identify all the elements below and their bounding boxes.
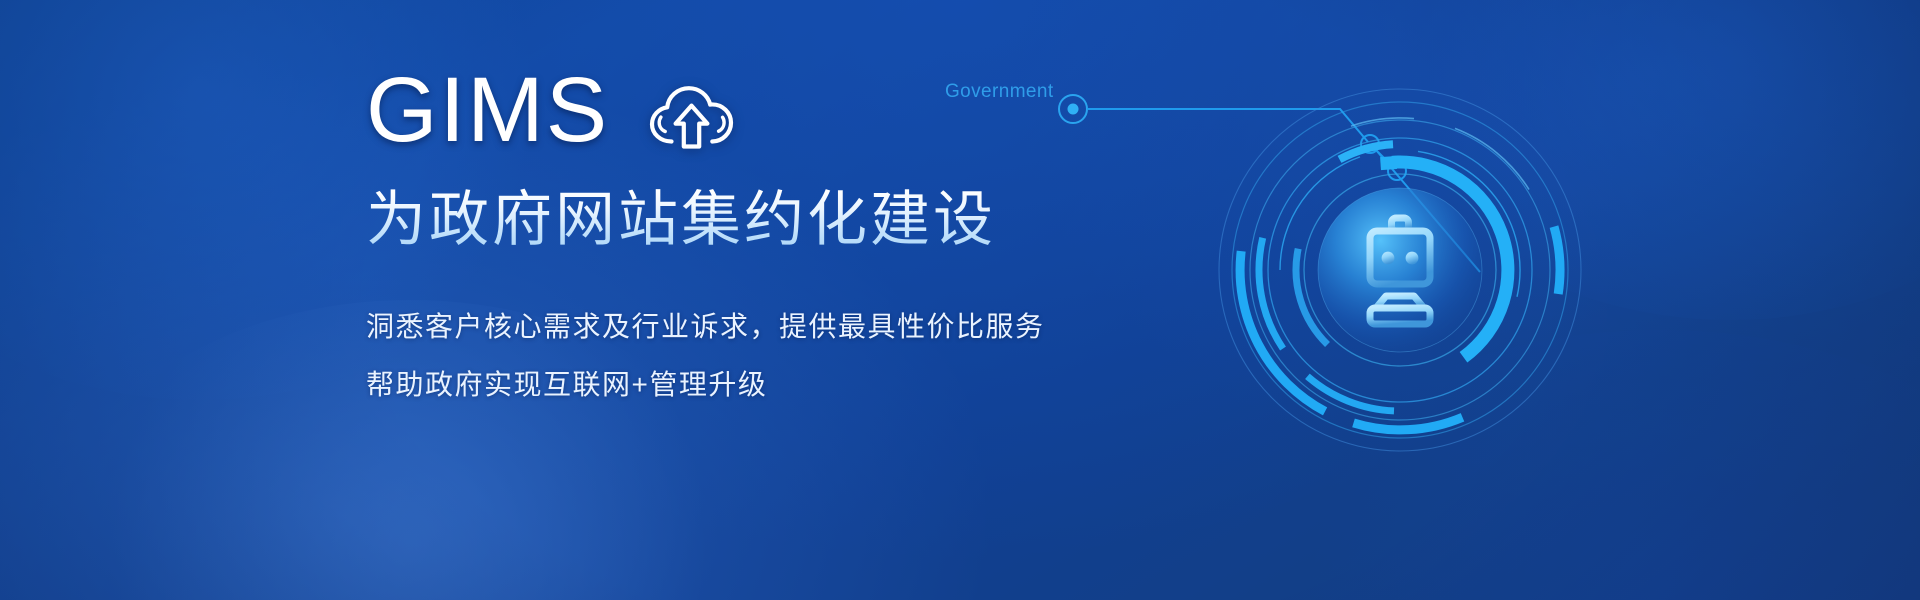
cloud-upload-icon <box>647 81 739 147</box>
tech-graphic: Government <box>900 60 1660 540</box>
brand-title: GIMS <box>366 64 609 156</box>
government-node-label: Government <box>945 81 1054 103</box>
tech-ring-system <box>1219 89 1581 451</box>
hero-banner: GIMS 为政府网站集约化建设 洞悉客户核心需求及行业诉求，提供最具性价比服务 … <box>0 0 1920 600</box>
